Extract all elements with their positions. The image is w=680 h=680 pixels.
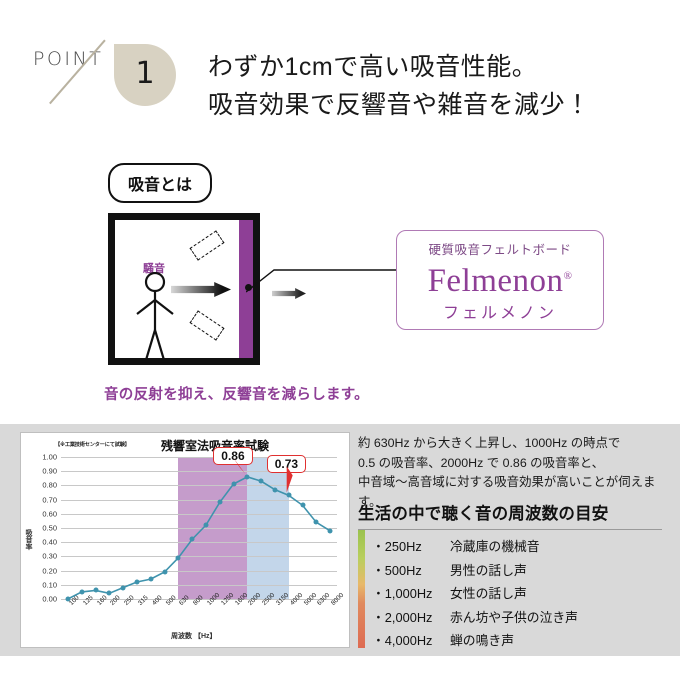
chart-data-point xyxy=(203,523,208,528)
brand-logo-box: 硬質吸音フェルトボード Felmenon® フェルメノン xyxy=(396,230,604,330)
chart-data-point xyxy=(231,481,236,486)
frequency-reference-divider xyxy=(358,529,662,530)
chart-series-line xyxy=(61,457,337,599)
brand-name: Felmenon® xyxy=(397,258,603,299)
room-diagram: 騒音 xyxy=(108,213,260,365)
brand-subtitle-bottom: フェルメノン xyxy=(397,299,603,323)
chart-data-point xyxy=(121,585,126,590)
chart-data-point xyxy=(148,577,153,582)
headline: わずか1cmで高い吸音性能。 吸音効果で反響音や雑音を減少！ xyxy=(208,48,648,124)
absorption-chart-panel: 【※工業技術センターにて試験】 残響室法吸音率試験 吸音率 0.000.100.… xyxy=(20,432,350,648)
chart-data-point xyxy=(93,588,98,593)
chart-data-point xyxy=(314,520,319,525)
chart-data-point xyxy=(245,474,250,479)
brand-subtitle-top: 硬質吸音フェルトボード xyxy=(397,239,603,258)
headline-line-1: わずか1cmで高い吸音性能。 xyxy=(208,48,648,86)
chart-data-point xyxy=(286,493,291,498)
frequency-reference-rows: ・250Hz冷蔵庫の機械音・500Hz男性の話し声・1,000Hz女性の話し声・… xyxy=(358,534,670,652)
chart-y-tick: 0.50 xyxy=(42,524,57,533)
frequency-value: ・250Hz xyxy=(372,536,450,555)
point-number: 1 xyxy=(114,56,176,91)
chart-y-tick: 0.40 xyxy=(42,538,57,547)
chart-explanation-line-2: 0.5 の吸音率、2000Hz で 0.86 の吸音率と、 xyxy=(358,454,670,474)
frequency-value: ・4,000Hz xyxy=(372,630,450,649)
chart-data-point xyxy=(328,528,333,533)
chart-y-axis-label: 吸音率 xyxy=(23,529,33,550)
frequency-description: 赤ん坊や子供の泣き声 xyxy=(450,607,578,626)
chart-y-tick: 0.20 xyxy=(42,566,57,575)
frequency-description: 男性の話し声 xyxy=(450,560,527,579)
frequency-color-scale xyxy=(358,530,365,648)
frequency-reference-title: 生活の中で聴く音の周波数の目安 xyxy=(358,500,670,524)
frequency-reference-row: ・250Hz冷蔵庫の機械音 xyxy=(372,534,670,558)
chart-data-point xyxy=(65,597,70,602)
chart-y-tick: 0.00 xyxy=(42,595,57,604)
frequency-reference-row: ・1,000Hz女性の話し声 xyxy=(372,581,670,605)
diagram-caption: 音の反射を抑え、反響音を減らします。 xyxy=(104,383,369,404)
brand-leader-line xyxy=(246,250,396,295)
brand-name-text: Felmenon xyxy=(428,263,564,299)
chart-y-tick: 0.70 xyxy=(42,495,57,504)
chart-y-tick: 0.80 xyxy=(42,481,57,490)
frequency-value: ・1,000Hz xyxy=(372,583,450,602)
registered-trademark-icon: ® xyxy=(564,270,573,282)
chart-plot-area: 0.000.100.200.300.400.500.600.700.800.90… xyxy=(61,457,337,599)
chart-y-tick: 0.10 xyxy=(42,580,57,589)
chart-data-point xyxy=(176,555,181,560)
chart-y-tick: 0.60 xyxy=(42,509,57,518)
chart-data-point xyxy=(259,479,264,484)
chart-test-note: 【※工業技術センターにて試験】 xyxy=(55,441,130,448)
frequency-description: 女性の話し声 xyxy=(450,583,527,602)
chart-y-tick: 0.90 xyxy=(42,467,57,476)
chart-explanation-line-1: 約 630Hz から大きく上昇し、1000Hz の時点で xyxy=(358,434,670,454)
chart-y-tick: 0.30 xyxy=(42,552,57,561)
chart-callout: 0.86 xyxy=(213,447,252,465)
chart-x-axis-label: 周波数 【Hz】 xyxy=(171,631,217,641)
reflected-sound-arrow-down-icon xyxy=(190,310,225,340)
chart-data-point xyxy=(162,570,167,575)
chart-data-point xyxy=(107,591,112,596)
chart-callout: 0.73 xyxy=(267,455,306,473)
what-is-absorption-label: 吸音とは xyxy=(108,163,212,203)
frequency-description: 蝉の鳴き声 xyxy=(450,630,514,649)
chart-data-point xyxy=(190,537,195,542)
chart-data-point xyxy=(217,500,222,505)
frequency-reference-list: 生活の中で聴く音の周波数の目安 ・250Hz冷蔵庫の機械音・500Hz男性の話し… xyxy=(358,500,670,650)
frequency-reference-row: ・4,000Hz蝉の鳴き声 xyxy=(372,628,670,652)
chart-data-point xyxy=(300,503,305,508)
frequency-value: ・2,000Hz xyxy=(372,607,450,626)
frequency-description: 冷蔵庫の機械音 xyxy=(450,536,540,555)
chart-data-point xyxy=(134,579,139,584)
person-figure-icon xyxy=(133,272,193,367)
frequency-value: ・500Hz xyxy=(372,560,450,579)
chart-data-point xyxy=(272,487,277,492)
headline-line-2: 吸音効果で反響音や雑音を減少！ xyxy=(208,86,648,124)
chart-data-point xyxy=(79,589,84,594)
reflected-sound-arrow-up-icon xyxy=(190,230,225,260)
frequency-reference-row: ・500Hz男性の話し声 xyxy=(372,558,670,582)
point-badge: POINT 1 xyxy=(30,38,190,118)
frequency-reference-row: ・2,000Hz赤ん坊や子供の泣き声 xyxy=(372,605,670,629)
chart-y-tick: 1.00 xyxy=(42,453,57,462)
